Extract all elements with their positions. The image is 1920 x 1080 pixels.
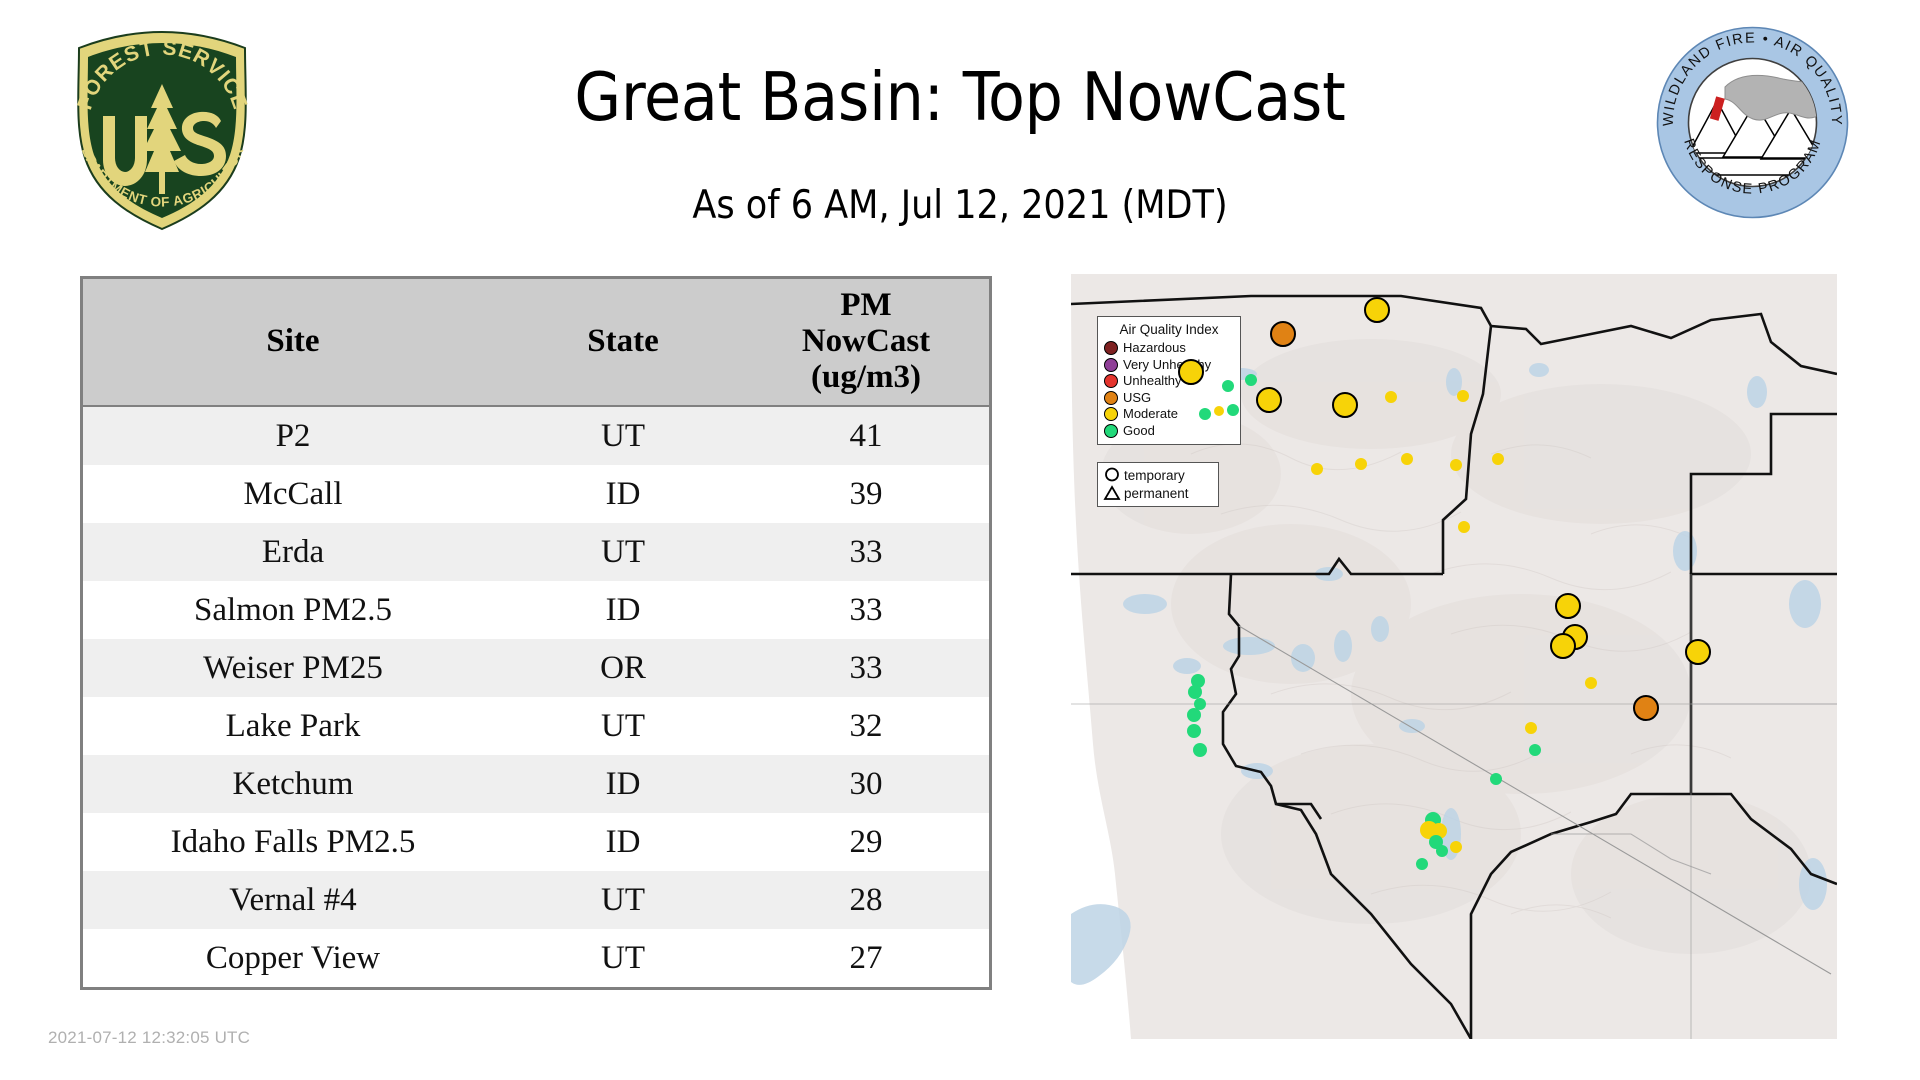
site-cell: P2 [83,406,503,465]
monitor-dot[interactable] [1525,722,1537,734]
monitor-dot[interactable] [1222,380,1234,392]
generated-timestamp: 2021-07-12 12:32:05 UTC [48,1028,250,1048]
monitor-dot[interactable] [1555,593,1581,619]
air-quality-monitor-map[interactable]: Air Quality Index HazardousVery Unhealth… [1071,274,1837,1039]
pm-value-cell: 30 [743,755,989,813]
site-cell: Copper View [83,929,503,987]
pm-value-cell: 41 [743,406,989,465]
site-cell: Erda [83,523,503,581]
monitor-dot[interactable] [1187,708,1201,722]
state-cell: OR [503,639,743,697]
monitor-dot[interactable] [1270,321,1296,347]
column-header-site: Site [83,279,503,406]
monitor-dot[interactable] [1187,724,1201,738]
monitor-dot[interactable] [1311,463,1323,475]
legend-swatch-icon [1104,374,1118,388]
monitor-dot[interactable] [1436,845,1448,857]
legend-swatch-icon [1104,407,1118,421]
state-cell: UT [503,929,743,987]
legend-title: Air Quality Index [1104,322,1234,337]
triangle-icon [1103,485,1121,501]
monitor-dot[interactable] [1529,744,1541,756]
legend-label: Good [1123,424,1155,438]
column-header-state: State [503,279,743,406]
monitor-dot[interactable] [1492,453,1504,465]
state-cell: ID [503,813,743,871]
monitor-dot[interactable] [1256,387,1282,413]
legend-row-temporary: temporary [1103,466,1213,484]
monitor-dot[interactable] [1401,453,1413,465]
pm-value-cell: 39 [743,465,989,523]
site-cell: McCall [83,465,503,523]
pm-value-cell: 32 [743,697,989,755]
pm-value-cell: 28 [743,871,989,929]
monitor-dot[interactable] [1188,685,1202,699]
monitor-dot[interactable] [1332,392,1358,418]
table-row: McCallID39 [83,465,989,523]
legend-swatch-icon [1104,358,1118,372]
monitor-dot[interactable] [1199,408,1211,420]
legend-row-hazardous: Hazardous [1104,340,1234,357]
monitor-dot[interactable] [1364,297,1390,323]
legend-label-temporary: temporary [1124,468,1185,483]
legend-label: Unhealthy [1123,374,1182,388]
state-cell: UT [503,406,743,465]
monitor-type-legend: temporary permanent [1097,462,1219,507]
site-cell: Vernal #4 [83,871,503,929]
monitor-dot[interactable] [1355,458,1367,470]
pm-value-cell: 33 [743,523,989,581]
wildland-fire-air-quality-logo: WILDLAND FIRE • AIR QUALITY RESPONSE PRO… [1655,25,1850,220]
legend-row-very-unhealthy: Very Unhealthy [1104,357,1234,374]
monitor-dot[interactable] [1450,841,1462,853]
table-header-row: Site State PM NowCast (ug/m3) [83,279,989,406]
site-cell: Weiser PM25 [83,639,503,697]
circle-icon [1103,467,1121,483]
site-cell: Idaho Falls PM2.5 [83,813,503,871]
monitor-dot[interactable] [1685,639,1711,665]
page-subtitle: As of 6 AM, Jul 12, 2021 (MDT) [360,183,1560,229]
column-header-pm-nowcast: PM NowCast (ug/m3) [743,279,989,406]
pm-header-line-1: PM [743,287,989,323]
pm-value-cell: 29 [743,813,989,871]
table-row: P2UT41 [83,406,989,465]
legend-swatch-icon [1104,341,1118,355]
pm-value-cell: 33 [743,639,989,697]
page-title: Great Basin: Top NowCast [360,58,1560,136]
legend-row-unhealthy: Unhealthy [1104,373,1234,390]
site-cell: Ketchum [83,755,503,813]
pm-value-cell: 27 [743,929,989,987]
state-cell: UT [503,697,743,755]
legend-row-usg: USG [1104,390,1234,407]
monitor-dot[interactable] [1450,459,1462,471]
monitor-dot[interactable] [1457,390,1469,402]
legend-label: Moderate [1123,407,1178,421]
legend-label: Hazardous [1123,341,1186,355]
monitor-dot[interactable] [1385,391,1397,403]
table-row: Lake ParkUT32 [83,697,989,755]
state-cell: ID [503,755,743,813]
monitor-dot[interactable] [1458,521,1470,533]
forest-service-logo: FOREST SERVICE DEPARTMENT OF AGRICULTURE [55,28,270,233]
state-cell: ID [503,465,743,523]
monitor-dot[interactable] [1193,743,1207,757]
table-row: Copper ViewUT27 [83,929,989,987]
table-row: KetchumID30 [83,755,989,813]
table-row: Weiser PM25OR33 [83,639,989,697]
monitor-dot[interactable] [1490,773,1502,785]
monitor-dot[interactable] [1585,677,1597,689]
page-header: FOREST SERVICE DEPARTMENT OF AGRICULTURE… [0,0,1920,270]
monitor-dot[interactable] [1416,858,1428,870]
table-row: Vernal #4UT28 [83,871,989,929]
legend-label-permanent: permanent [1124,486,1189,501]
state-cell: ID [503,581,743,639]
legend-label: USG [1123,391,1151,405]
site-cell: Salmon PM2.5 [83,581,503,639]
top-nowcast-table: Site State PM NowCast (ug/m3) P2UT41McCa… [80,276,992,990]
air-quality-index-legend: Air Quality Index HazardousVery Unhealth… [1097,316,1241,445]
monitor-dot[interactable] [1178,359,1204,385]
monitor-dot[interactable] [1550,633,1576,659]
pm-value-cell: 33 [743,581,989,639]
monitor-dot[interactable] [1214,406,1224,416]
site-cell: Lake Park [83,697,503,755]
monitor-dot[interactable] [1227,404,1239,416]
monitor-dot[interactable] [1245,374,1257,386]
table-row: ErdaUT33 [83,523,989,581]
legend-row-permanent: permanent [1103,484,1213,502]
legend-swatch-icon [1104,391,1118,405]
state-cell: UT [503,523,743,581]
table-row: Idaho Falls PM2.5ID29 [83,813,989,871]
pm-header-line-3: (ug/m3) [743,359,989,395]
state-cell: UT [503,871,743,929]
pm-header-line-2: NowCast [743,323,989,359]
legend-row-good: Good [1104,423,1234,440]
table-row: Salmon PM2.5ID33 [83,581,989,639]
monitor-dot[interactable] [1633,695,1659,721]
legend-swatch-icon [1104,424,1118,438]
